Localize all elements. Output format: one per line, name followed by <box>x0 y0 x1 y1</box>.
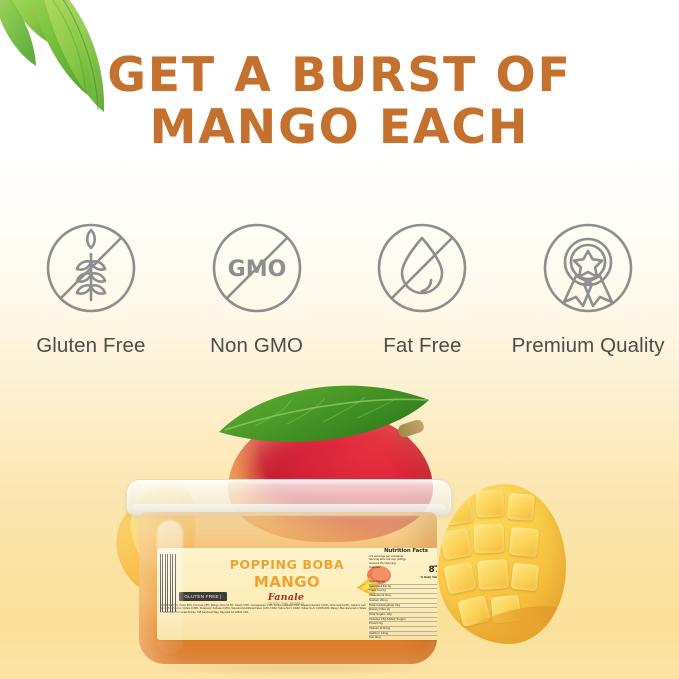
headline: GET A BURST OF MANGO EACH <box>0 52 679 152</box>
marketing-banner: GET A BURST OF MANGO EACH Gluten <box>0 0 679 679</box>
product-label: POPPING BOBA MANGO GLUTEN FREE | NON-GMO… <box>157 548 437 640</box>
badge-non-gmo: GMO Non GMO <box>177 214 337 358</box>
headline-line-2: MANGO EACH <box>0 104 679 152</box>
badge-label: Non GMO <box>210 334 303 358</box>
headline-line-1: GET A BURST OF <box>0 52 679 100</box>
nutrition-calories-word: Calories <box>369 566 437 570</box>
ingredients-text: INGREDIENTS: Water 60%, Fructose 18%, Ma… <box>160 604 368 638</box>
nutrition-facts-panel: Nutrition Facts 4.5 servings per contain… <box>369 550 437 638</box>
popping-boba-tub: POPPING BOBA MANGO GLUTEN FREE | NON-GMO… <box>126 479 450 667</box>
nutrition-calories-value: 100g 87 <box>428 565 437 572</box>
cut-mango-cubes <box>438 484 566 644</box>
nutrition-rows: Total Fat 0g0% Saturated Fat 0g0% Trans … <box>369 580 437 640</box>
badge-fat-free: Fat Free <box>342 214 502 358</box>
product-shadow <box>150 660 440 676</box>
badge-label: Gluten Free <box>36 334 145 358</box>
mango-leaf-icon <box>215 380 435 448</box>
tub-body: POPPING BOBA MANGO GLUTEN FREE | NON-GMO… <box>139 512 437 664</box>
premium-quality-icon <box>534 214 642 322</box>
label-subtitle: MANGO <box>217 573 357 591</box>
product-scene: POPPING BOBA MANGO GLUTEN FREE | NON-GMO… <box>0 374 679 679</box>
badge-gluten-free: Gluten Free <box>11 214 171 358</box>
nutrition-row: Iron 0mg0% <box>369 636 437 640</box>
feature-badges: Gluten Free GMO Non GMO Fa <box>0 214 679 358</box>
barcode <box>160 554 176 612</box>
label-chip: GLUTEN FREE | NON-GMO <box>179 592 227 601</box>
non-gmo-icon: GMO <box>203 214 311 322</box>
fat-free-icon <box>368 214 476 322</box>
badge-label: Fat Free <box>383 334 461 358</box>
badge-label: Premium Quality <box>512 334 665 358</box>
gluten-free-icon <box>37 214 145 322</box>
badge-premium-quality: Premium Quality <box>508 214 668 358</box>
label-title: POPPING BOBA <box>217 557 357 572</box>
